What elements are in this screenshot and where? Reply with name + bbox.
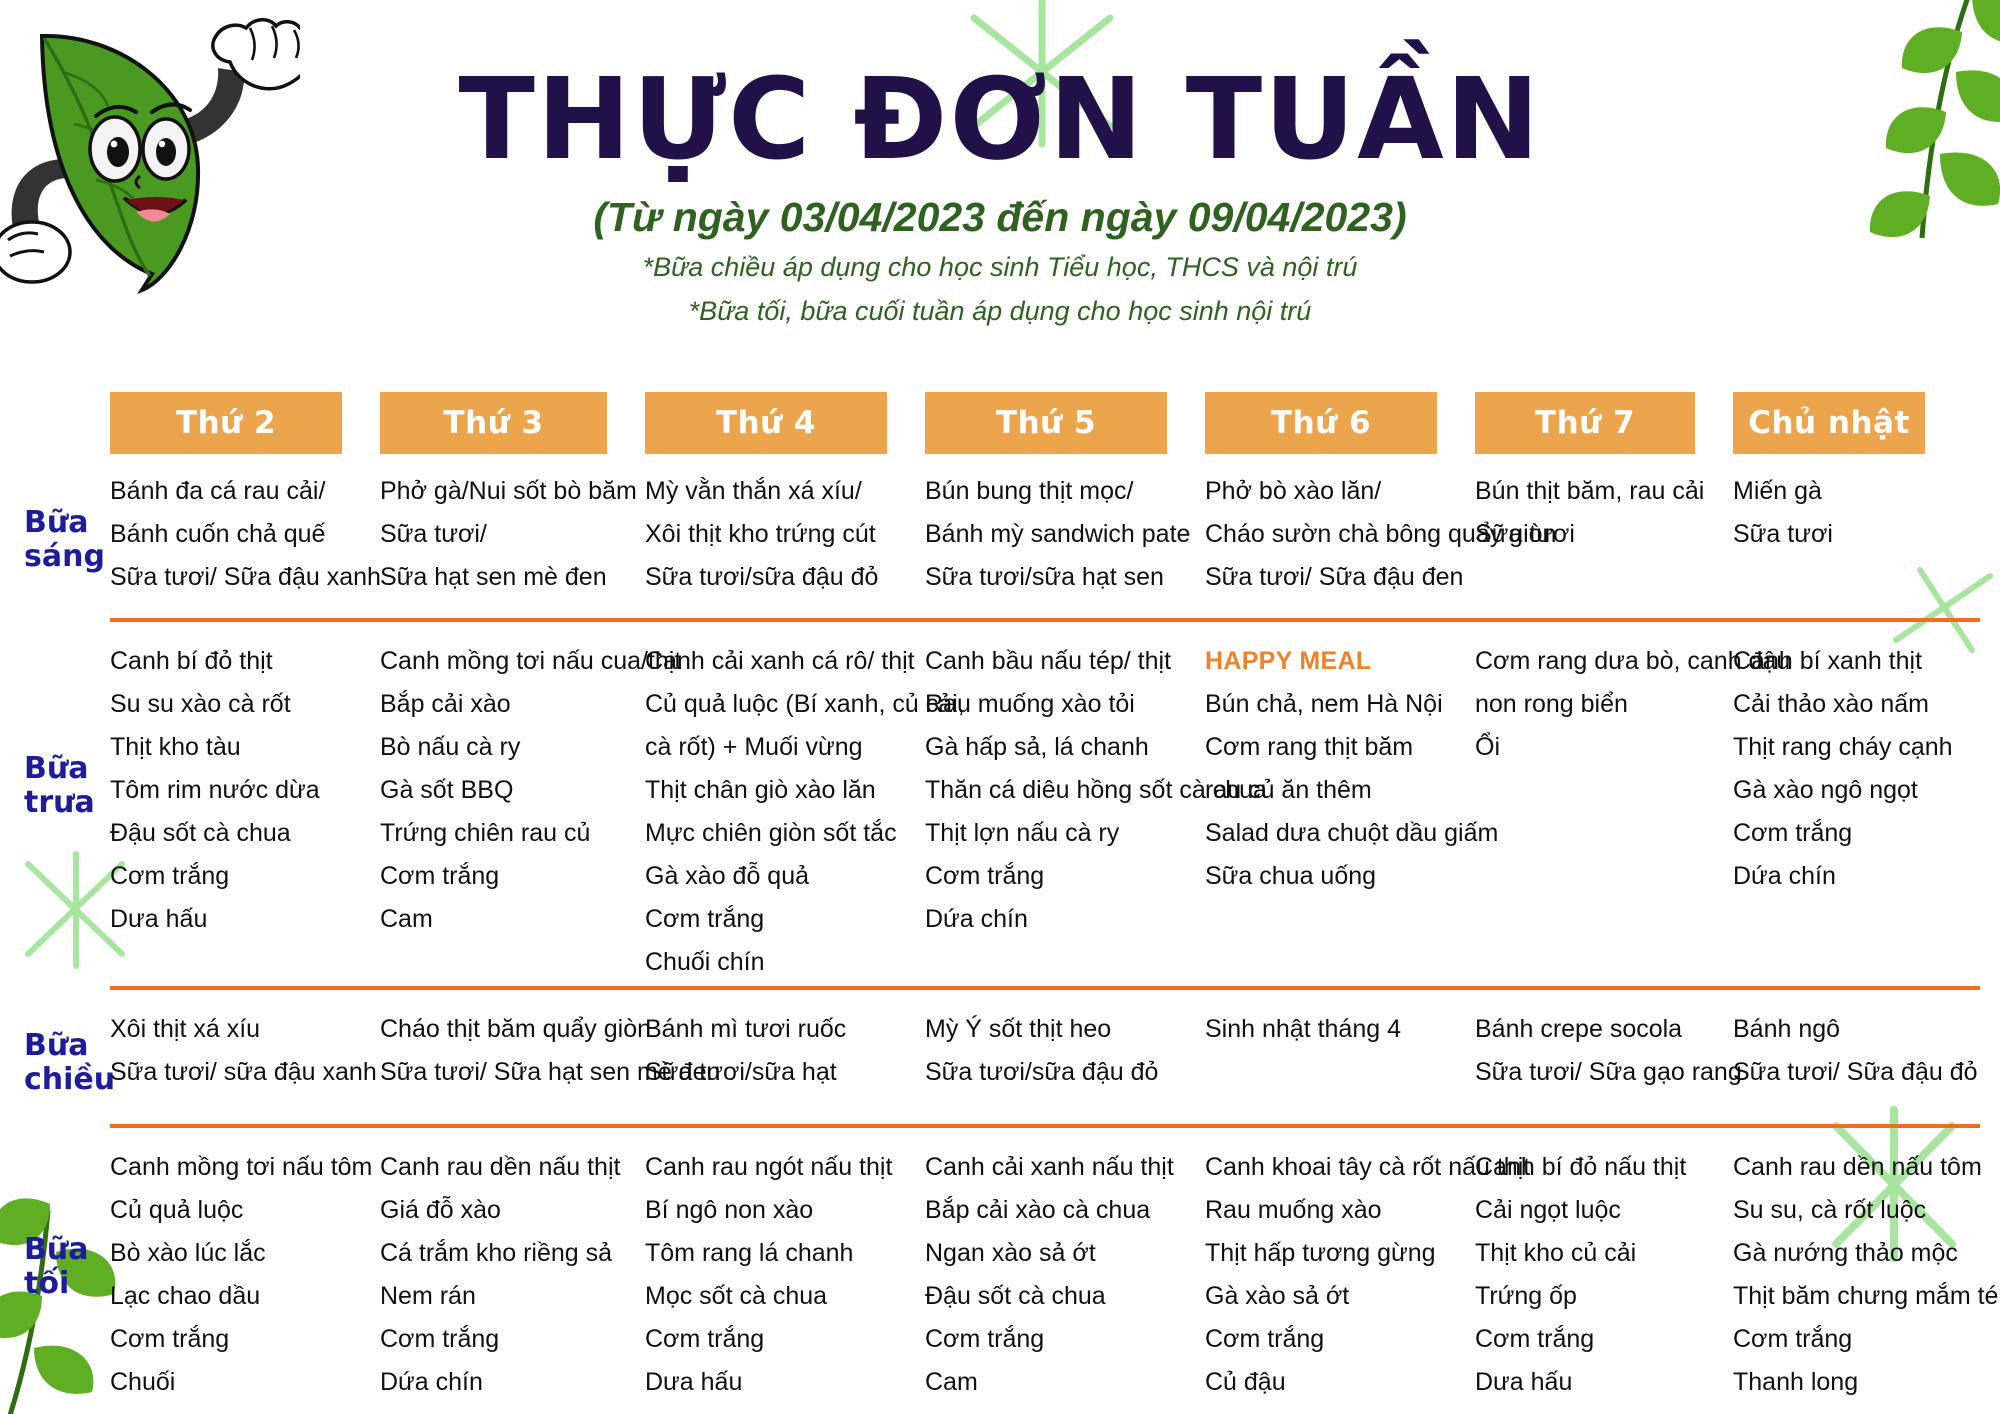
menu-item: Gà xào đỗ quả [645,855,905,898]
day-header-sat: Thứ 7 [1475,392,1695,454]
menu-item: Bánh cuốn chả quế [110,513,360,556]
meal-row-dinner: Bữatối Canh mồng tơi nấu tômCủ quả luộcB… [20,1128,1980,1404]
menu-item: Bún chả, nem Hà Nội [1205,683,1455,726]
meal-label-line2: sáng [24,540,105,574]
menu-item: Thanh long [1733,1361,1943,1404]
menu-item: Canh cải xanh nấu thịt [925,1146,1185,1189]
menu-item: Su su, cà rốt luộc [1733,1189,1943,1232]
meal-row-lunch: Bữatrưa Canh bí đỏ thịtSu su xào cà rốtT… [20,622,1980,984]
meal-label-lunch: Bữatrưa [20,636,110,936]
menu-item: Thịt lợn nấu cà ry [925,812,1185,855]
menu-item: Cơm trắng [1205,1318,1455,1361]
menu-item: Thịt hấp tương gừng [1205,1232,1455,1275]
menu-item: Bánh ngô [1733,1008,1943,1051]
day-header-row: Thứ 2 Thứ 3 Thứ 4 Thứ 5 Thứ 6 Thứ 7 Chủ … [20,392,1980,454]
meal-label-line1: Bữa [24,506,105,540]
menu-item: Canh rau dền nấu tôm [1733,1146,1943,1189]
menu-item: Sữa hạt sen mè đen [380,556,625,599]
menu-item: Cơm trắng [925,1318,1185,1361]
menu-item: Sinh nhật tháng 4 [1205,1008,1455,1051]
menu-item: Cơm trắng [645,1318,905,1361]
menu-item: Chuối [110,1361,360,1404]
menu-item: Tôm rang lá chanh [645,1232,905,1275]
menu-item: Xôi thịt xá xíu [110,1008,360,1051]
day-header-mon: Thứ 2 [110,392,342,454]
menu-item: Thịt băm chưng mắm tép [1733,1275,1943,1318]
menu-item: Gà nướng thảo mộc [1733,1232,1943,1275]
cell-breakfast-sun: Miến gàSữa tươi [1733,466,1963,556]
menu-item: Bánh mì tươi ruốc [645,1008,905,1051]
menu-item: Miến gà [1733,470,1943,513]
menu-item: Thịt rang cháy cạnh [1733,726,1943,769]
menu-item: Phở bò xào lăn/ [1205,470,1455,513]
menu-item: Sữa tươi/ Sữa hạt sen mè đen [380,1051,625,1094]
menu-item: Cơm rang thịt băm [1205,726,1455,769]
cell-breakfast-thu: Bún bung thịt mọc/Bánh mỳ sandwich pateS… [925,466,1205,599]
page-title: THỰC ĐƠN TUẦN [0,62,2000,180]
menu-item: Cơm rang dưa bò, canh đậu [1475,640,1713,683]
menu-item: Dứa chín [1733,855,1943,898]
menu-item: Canh bí xanh thịt [1733,640,1943,683]
menu-item: Ngan xào sả ớt [925,1232,1185,1275]
meal-label-breakfast: Bữasáng [20,466,110,614]
menu-item: Mực chiên giòn sốt tắc [645,812,905,855]
menu-item: Bò nấu cà ry [380,726,625,769]
menu-item: Cơm trắng [110,855,360,898]
menu-item: Trứng ốp [1475,1275,1713,1318]
menu-item: Thăn cá diêu hồng sốt cà chua [925,769,1185,812]
cell-afternoon-thu: Mỳ Ý sốt thịt heoSữa tươi/sữa đậu đỏ [925,1004,1205,1094]
cell-afternoon-fri: Sinh nhật tháng 4 [1205,1004,1475,1051]
menu-item: Thịt chân giò xào lăn [645,769,905,812]
menu-item: Cơm trắng [110,1318,360,1361]
meal-label-line1: Bữa [24,1029,115,1063]
menu-item: Dưa hấu [1475,1361,1713,1404]
menu-item: Sữa tươi [1475,513,1713,556]
cell-breakfast-fri: Phở bò xào lăn/Cháo sườn chà bông quẩy g… [1205,466,1475,599]
day-header-wed: Thứ 4 [645,392,887,454]
menu-item: Dưa hấu [110,898,360,941]
menu-item: Sữa tươi/ Sữa đậu đỏ [1733,1051,1943,1094]
menu-item: Salad dưa chuột dầu giấm [1205,812,1455,855]
menu-grid: Thứ 2 Thứ 3 Thứ 4 Thứ 5 Thứ 6 Thứ 7 Chủ … [20,392,1980,1404]
menu-item: Cơm trắng [1733,1318,1943,1361]
day-header-sun: Chủ nhật [1733,392,1925,454]
cell-dinner-sun: Canh rau dền nấu tômSu su, cà rốt luộcGà… [1733,1142,1963,1404]
menu-item: Cơm trắng [1475,1318,1713,1361]
cell-lunch-sun: Canh bí xanh thịtCải thảo xào nấmThịt ra… [1733,636,1963,898]
menu-item: Dưa hấu [645,1361,905,1404]
menu-item: Chuối chín [645,941,905,984]
cell-lunch-tue: Canh mồng tơi nấu cua/thịtBắp cải xàoBò … [380,636,645,941]
cell-afternoon-wed: Bánh mì tươi ruốcSữa tươi/sữa hạt [645,1004,925,1094]
menu-item: Nem rán [380,1275,625,1318]
menu-item: Củ đậu [1205,1361,1455,1404]
menu-item: Gà hấp sả, lá chanh [925,726,1185,769]
menu-item: Cháo sườn chà bông quẩy giòn [1205,513,1455,556]
menu-item: Bánh mỳ sandwich pate [925,513,1185,556]
menu-item: Sữa chua uống [1205,855,1455,898]
cell-breakfast-wed: Mỳ vằn thắn xá xíu/Xôi thịt kho trứng cú… [645,466,925,599]
cell-dinner-mon: Canh mồng tơi nấu tômCủ quả luộcBò xào l… [110,1142,380,1404]
cell-dinner-fri: Canh khoai tây cà rốt nấu thịtRau muống … [1205,1142,1475,1404]
menu-item: Sữa tươi/ Sữa đậu xanh [110,556,360,599]
menu-item: Canh cải xanh cá rô/ thịt [645,640,905,683]
menu-item: Rau muống xào tỏi [925,683,1185,726]
day-header-thu: Thứ 5 [925,392,1167,454]
menu-item: Sữa tươi [1733,513,1943,556]
meal-label-afternoon: Bữachiều [20,1004,110,1122]
meal-label-line1: Bữa [24,752,95,786]
menu-item: Mỳ vằn thắn xá xíu/ [645,470,905,513]
cell-afternoon-mon: Xôi thịt xá xíuSữa tươi/ sữa đậu xanh [110,1004,380,1094]
cell-dinner-sat: Canh bí đỏ nấu thịtCải ngọt luộcThịt kho… [1475,1142,1733,1404]
menu-item: Lạc chao dầu [110,1275,360,1318]
menu-item: Cải thảo xào nấm [1733,683,1943,726]
menu-item: Cam [380,898,625,941]
cell-afternoon-sat: Bánh crepe socolaSữa tươi/ Sữa gạo rang [1475,1004,1733,1094]
menu-item: Cơm trắng [380,1318,625,1361]
meal-row-breakfast: Bữasáng Bánh đa cá rau cải/Bánh cuốn chả… [20,454,1980,614]
meal-label-line2: chiều [24,1063,115,1097]
menu-item: Sữa tươi/sữa hạt [645,1051,905,1094]
menu-item: Sữa tươi/sữa đậu đỏ [925,1051,1185,1094]
cell-lunch-sat: Cơm rang dưa bò, canh đậunon rong biểnỔi [1475,636,1733,769]
cell-lunch-wed: Canh cải xanh cá rô/ thịtCủ quả luộc (Bí… [645,636,925,984]
cell-dinner-wed: Canh rau ngót nấu thịtBí ngô non xàoTôm … [645,1142,925,1404]
menu-item: Canh rau ngót nấu thịt [645,1146,905,1189]
cell-dinner-thu: Canh cải xanh nấu thịtBắp cải xào cà chu… [925,1142,1205,1404]
menu-item: Rau muống xào [1205,1189,1455,1232]
menu-item: Cơm trắng [380,855,625,898]
note-line-1: *Bữa chiều áp dụng cho học sinh Tiểu học… [0,249,2000,285]
cell-lunch-fri: HAPPY MEALBún chả, nem Hà Nội Cơm rang t… [1205,636,1475,898]
cell-dinner-tue: Canh rau dền nấu thịtGiá đỗ xàoCá trắm k… [380,1142,645,1404]
menu-item: Thịt kho củ cải [1475,1232,1713,1275]
menu-item: Giá đỗ xào [380,1189,625,1232]
menu-item: Sữa tươi/sữa đậu đỏ [645,556,905,599]
menu-item: Canh bí đỏ nấu thịt [1475,1146,1713,1189]
menu-item: Cam [925,1361,1185,1404]
menu-item: Bún thịt băm, rau cải [1475,470,1713,513]
menu-item: Su su xào cà rốt [110,683,360,726]
menu-item: Sữa tươi/ [380,513,625,556]
menu-item: Canh rau dền nấu thịt [380,1146,625,1189]
menu-item: Gà xào ngô ngọt [1733,769,1943,812]
meal-row-afternoon: Bữachiều Xôi thịt xá xíuSữa tươi/ sữa đậ… [20,990,1980,1122]
menu-item: Cơm trắng [925,855,1185,898]
menu-item: Đậu sốt cà chua [925,1275,1185,1318]
menu-item: Trứng chiên rau củ [380,812,625,855]
menu-item: Bò xào lúc lắc [110,1232,360,1275]
menu-item: Cơm trắng [645,898,905,941]
menu-item: Dứa chín [925,898,1185,941]
meal-label-dinner: Bữatối [20,1142,110,1392]
menu-poster: THỰC ĐƠN TUẦN (Từ ngày 03/04/2023 đến ng… [0,0,2000,1414]
menu-item: Bắp cải xào cà chua [925,1189,1185,1232]
menu-item: Cơm trắng [1733,812,1943,855]
menu-item: Sữa tươi/ Sữa gạo rang [1475,1051,1713,1094]
day-header-fri: Thứ 6 [1205,392,1437,454]
cell-breakfast-tue: Phở gà/Nui sốt bò bămSữa tươi/Sữa hạt se… [380,466,645,599]
corner-spacer [20,392,110,454]
menu-item: Sữa tươi/sữa hạt sen [925,556,1185,599]
menu-item: Gà xào sả ớt [1205,1275,1455,1318]
menu-item: Tôm rim nước dừa [110,769,360,812]
day-header-tue: Thứ 3 [380,392,607,454]
menu-item: Dứa chín [380,1361,625,1404]
menu-item: Bánh đa cá rau cải/ [110,470,360,513]
menu-item: cà rốt) + Muối vừng [645,726,905,769]
menu-item: Củ quả luộc (Bí xanh, củ cải, [645,683,905,726]
menu-item: Ổi [1475,726,1713,769]
menu-item: Bí ngô non xào [645,1189,905,1232]
cell-breakfast-sat: Bún thịt băm, rau cảiSữa tươi [1475,466,1733,556]
menu-item: Canh khoai tây cà rốt nấu thịt [1205,1146,1455,1189]
menu-item: Cháo thịt băm quẩy giòn [380,1008,625,1051]
cell-breakfast-mon: Bánh đa cá rau cải/Bánh cuốn chả quếSữa … [110,466,380,599]
menu-item: Canh bầu nấu tép/ thịt [925,640,1185,683]
menu-item: Bắp cải xào [380,683,625,726]
menu-item: rau củ ăn thêm [1205,769,1455,812]
note-line-2: *Bữa tối, bữa cuối tuần áp dụng cho học … [0,293,2000,329]
menu-item: Mỳ Ý sốt thịt heo [925,1008,1185,1051]
menu-item: Bánh crepe socola [1475,1008,1713,1051]
menu-item: Canh mồng tơi nấu tôm [110,1146,360,1189]
menu-item: Phở gà/Nui sốt bò băm [380,470,625,513]
cell-lunch-mon: Canh bí đỏ thịtSu su xào cà rốtThịt kho … [110,636,380,941]
menu-item: Canh mồng tơi nấu cua/thịt [380,640,625,683]
menu-item: Xôi thịt kho trứng cút [645,513,905,556]
menu-item: Cá trắm kho riềng sả [380,1232,625,1275]
cell-lunch-thu: Canh bầu nấu tép/ thịtRau muống xào tỏiG… [925,636,1205,941]
meal-label-line2: trưa [24,786,95,820]
menu-item: non rong biển [1475,683,1713,726]
menu-item: Mọc sốt cà chua [645,1275,905,1318]
menu-item: Sữa tươi/ sữa đậu xanh [110,1051,360,1094]
menu-item: Bún bung thịt mọc/ [925,470,1185,513]
meal-label-line1: Bữa [24,1233,88,1267]
menu-item: Gà sốt BBQ [380,769,625,812]
menu-item: Đậu sốt cà chua [110,812,360,855]
menu-item: Củ quả luộc [110,1189,360,1232]
menu-item: Sữa tươi/ Sữa đậu đen [1205,556,1455,599]
meal-label-line2: tối [24,1267,88,1301]
menu-item: Canh bí đỏ thịt [110,640,360,683]
menu-item: Cải ngọt luộc [1475,1189,1713,1232]
menu-item-highlight: HAPPY MEAL [1205,640,1455,683]
date-range-subtitle: (Từ ngày 03/04/2023 đến ngày 09/04/2023) [0,194,2000,241]
cell-afternoon-sun: Bánh ngôSữa tươi/ Sữa đậu đỏ [1733,1004,1963,1094]
cell-afternoon-tue: Cháo thịt băm quẩy giònSữa tươi/ Sữa hạt… [380,1004,645,1094]
poster-header: THỰC ĐƠN TUẦN (Từ ngày 03/04/2023 đến ng… [0,0,2000,329]
menu-item: Thịt kho tàu [110,726,360,769]
